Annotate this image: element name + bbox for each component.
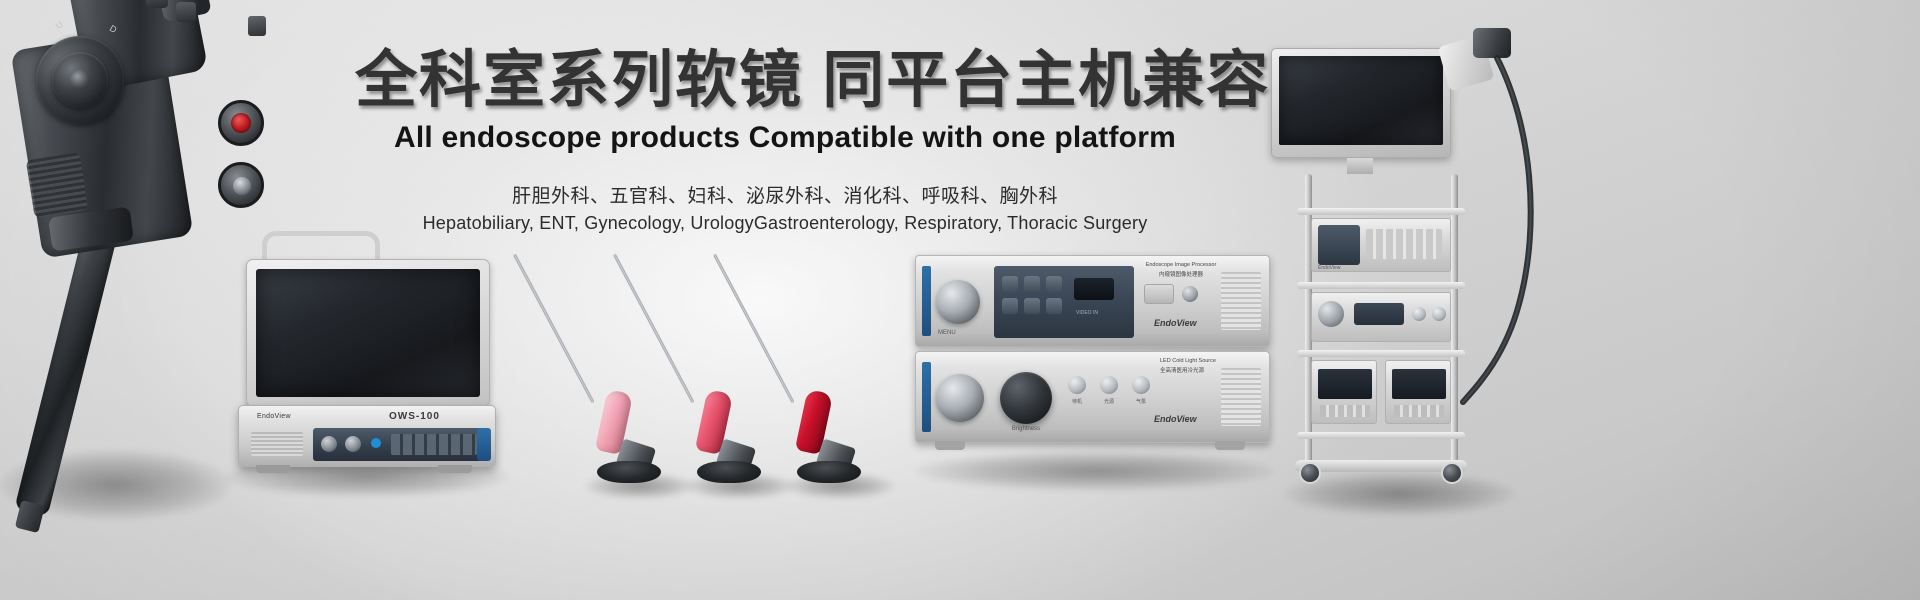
processor-btn-3[interactable]	[1046, 276, 1062, 292]
lightsource-btn-pump[interactable]	[1132, 376, 1150, 394]
lightsource-fiber-port[interactable]	[936, 374, 984, 422]
lightsource-btn-lamp[interactable]	[1100, 376, 1118, 394]
scope-remote-button-3[interactable]	[248, 16, 266, 36]
console-knob-a[interactable]	[321, 436, 337, 452]
console-side-accent	[477, 428, 491, 461]
stack-foot-right	[1215, 441, 1245, 450]
console-control-panel	[313, 428, 485, 461]
processor-btn-4[interactable]	[1002, 298, 1018, 314]
cart-device-upper: EndoView	[1311, 218, 1451, 272]
cart-device-lower-left	[1311, 360, 1377, 424]
cart-shelf-2	[1297, 282, 1465, 289]
processor-knob-label: MENU	[938, 330, 956, 336]
cart-device-middle-display	[1354, 303, 1404, 325]
console-brand: EndoView	[257, 413, 291, 420]
console-model: OWS-100	[389, 411, 440, 422]
ows-100-console: EndoView OWS-100	[232, 235, 502, 485]
endoview-light-source: Brightness 待机 光源 气泵 LED Cold Light Sourc…	[915, 351, 1270, 443]
scope-valve-center	[233, 177, 251, 195]
cart-device-middle-btn-2[interactable]	[1432, 307, 1446, 321]
cart-shelf-1	[1297, 208, 1465, 215]
processor-display	[1074, 278, 1114, 300]
endoscopy-cart-tower: EndoView	[1295, 20, 1595, 580]
lightsource-label-lamp: 光源	[1094, 398, 1124, 405]
banner-stage: U D EndoView OWS-100	[0, 0, 1920, 600]
processor-main-knob[interactable]	[936, 280, 980, 324]
lightsource-title-en: LED Cold Light Source	[1160, 358, 1246, 364]
cart-device-lower-right-keys[interactable]	[1394, 405, 1444, 417]
cart-scope-cable	[1445, 54, 1575, 414]
lightsource-vent	[1221, 368, 1261, 426]
processor-title-cn: 内窥镜图像处理器	[1138, 270, 1224, 278]
cart-device-lower-right	[1385, 360, 1451, 424]
flexible-endoscope-red	[705, 255, 865, 505]
scope-shaft	[513, 254, 595, 404]
lightsource-label-standby: 待机	[1062, 398, 1092, 405]
scope-shaft	[713, 254, 795, 404]
stack-foot-left	[935, 441, 965, 450]
lightsource-brand: EndoView	[1154, 414, 1197, 424]
scope-suction-indicator	[231, 113, 251, 133]
endoview-unit-stack: MENU VIDEO IN Endoscope Image Processor …	[915, 255, 1275, 470]
console-keypad[interactable]	[391, 434, 477, 455]
cart-device-middle	[1311, 292, 1451, 342]
processor-title-en: Endoscope Image Processor	[1138, 262, 1224, 268]
processor-vent	[1221, 272, 1261, 330]
banner-title: 全科室系列软镜 同平台主机兼容	[355, 48, 1215, 115]
scope-grip-ribs	[26, 152, 88, 218]
cart-monitor-screen	[1279, 56, 1443, 145]
scope-remote-button-1[interactable]	[146, 0, 168, 8]
console-screen	[256, 269, 480, 397]
console-base-unit: EndoView OWS-100	[238, 405, 496, 467]
cart-device-upper-brand: EndoView	[1318, 265, 1340, 271]
cart-caster-right	[1441, 462, 1463, 484]
banner-subtitle: All endoscope products Compatible with o…	[355, 121, 1215, 155]
cart-device-lower-left-keys[interactable]	[1320, 405, 1370, 417]
cart-device-lower-right-screen	[1392, 369, 1446, 399]
scope-remote-button-2[interactable]	[176, 2, 196, 22]
cart-device-middle-btn-1[interactable]	[1412, 307, 1426, 321]
cart-device-upper-keys[interactable]	[1366, 229, 1442, 259]
console-foot-right	[438, 465, 472, 473]
cart-device-lower-left-screen	[1318, 369, 1372, 399]
processor-side-accent	[922, 266, 931, 336]
cart-shelf-3	[1297, 350, 1465, 357]
departments-english: Hepatobiliary, ENT, Gynecology, UrologyG…	[355, 213, 1215, 234]
scope-suction-valve[interactable]	[218, 100, 264, 146]
scope-knob-label-u: U	[54, 19, 65, 31]
banner-text-block: 全科室系列软镜 同平台主机兼容 All endoscope products C…	[355, 48, 1215, 234]
cart-shelf-4	[1297, 432, 1465, 439]
console-foot-left	[256, 465, 290, 473]
console-power-led	[371, 438, 381, 448]
scope-shaft	[613, 254, 695, 404]
lightsource-side-accent	[922, 362, 931, 432]
lightsource-knob-label: Brightness	[1000, 426, 1052, 432]
lightsource-label-pump: 气泵	[1126, 398, 1156, 405]
cart-monitor-bezel	[1271, 48, 1451, 158]
processor-btn-6[interactable]	[1046, 298, 1062, 314]
processor-aux-knob[interactable]	[1182, 286, 1198, 302]
processor-control-panel: VIDEO IN	[994, 266, 1134, 338]
processor-btn-1[interactable]	[1002, 276, 1018, 292]
cart-device-upper-panel	[1318, 225, 1360, 265]
scope-knob-center[interactable]	[70, 70, 90, 90]
lightsource-brightness-knob[interactable]	[1000, 372, 1052, 424]
lightsource-btn-standby[interactable]	[1068, 376, 1086, 394]
departments-chinese: 肝胆外科、五官科、妇科、泌尿外科、消化科、呼吸科、胸外科	[355, 181, 1215, 208]
cart-shadow	[1285, 472, 1515, 516]
cart-device-middle-knob[interactable]	[1318, 301, 1344, 327]
scope-stand-base	[797, 461, 861, 483]
console-speaker-grille	[251, 432, 303, 456]
endoview-image-processor: MENU VIDEO IN Endoscope Image Processor …	[915, 255, 1270, 347]
stack-shadow	[915, 451, 1275, 491]
processor-panel-caption: VIDEO IN	[1076, 310, 1098, 316]
console-knob-b[interactable]	[345, 436, 361, 452]
console-monitor-bezel	[246, 259, 490, 407]
processor-btn-5[interactable]	[1024, 298, 1040, 314]
processor-brand: EndoView	[1154, 318, 1197, 328]
processor-btn-2[interactable]	[1024, 276, 1040, 292]
processor-usb-port[interactable]	[1144, 284, 1174, 304]
cart-monitor-neck	[1347, 158, 1373, 174]
cart-caster-left	[1299, 462, 1321, 484]
scope-air-water-valve[interactable]	[218, 162, 264, 208]
